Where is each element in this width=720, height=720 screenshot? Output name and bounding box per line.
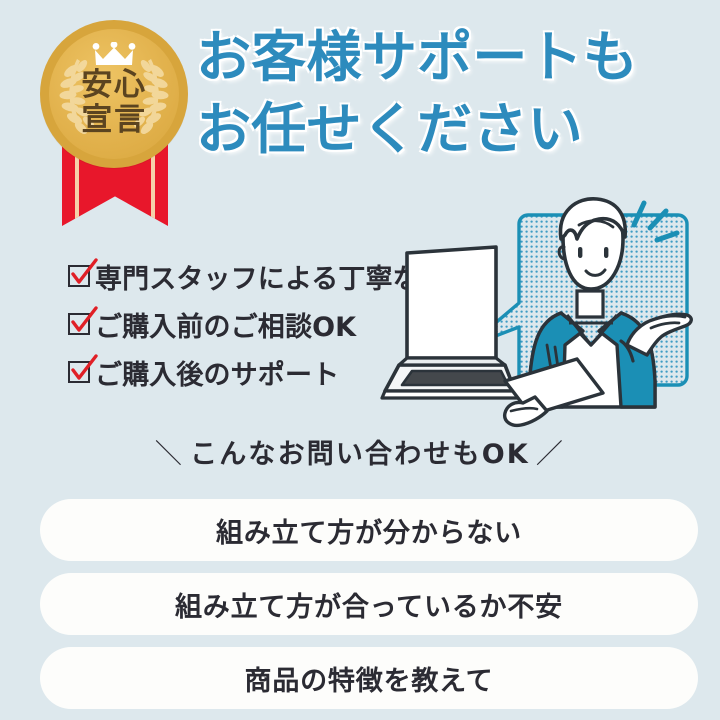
badge-text: 安心 宣言 (49, 69, 179, 137)
slash-left-icon: ＼ (149, 432, 190, 471)
checkbox-checked-icon (68, 361, 90, 383)
medal-disc: 安心 宣言 (40, 20, 188, 168)
question-pill[interactable]: 商品の特徴を教えて (40, 647, 698, 709)
sub-headline: ＼こんなお問い合わせもOK／ (0, 432, 720, 471)
question-pill-label: 組み立て方が合っているか不安 (175, 585, 563, 624)
checkbox-checked-icon (68, 265, 90, 287)
question-pill-label: 組み立て方が分からない (216, 511, 522, 550)
sub-headline-text: こんなお問い合わせもOK (190, 439, 530, 470)
list-item-label: ご購入前のご相談OK (95, 305, 356, 344)
slash-right-icon: ／ (530, 432, 571, 471)
page-title: お客様サポートも お任せください (196, 22, 716, 165)
check-mark-icon (69, 258, 99, 288)
medal-inner-disc: 安心 宣言 (49, 29, 179, 159)
question-pill-label: 商品の特徴を教えて (245, 659, 494, 698)
check-mark-icon (69, 354, 99, 384)
page-title-line2: お任せください (196, 94, 716, 166)
crown-icon (91, 42, 137, 68)
list-item-label: ご購入後のサポート (95, 353, 339, 392)
checkbox-checked-icon (68, 313, 90, 335)
check-mark-icon (69, 306, 99, 336)
page-title-line1: お客様サポートも (196, 22, 716, 94)
support-banner: 安心 宣言 お客様サポートも お任せください 専門スタッフによる丁寧な対応 (0, 0, 720, 720)
laptop-icon (382, 247, 518, 398)
badge-text-line2: 宣言 (49, 104, 179, 137)
question-pill[interactable]: 組み立て方が合っているか不安 (40, 573, 698, 635)
support-staff-with-laptop-illustration (355, 195, 715, 430)
question-pill[interactable]: 組み立て方が分からない (40, 499, 698, 561)
anshin-sengen-badge: 安心 宣言 (22, 16, 192, 216)
badge-text-line1: 安心 (49, 69, 179, 102)
